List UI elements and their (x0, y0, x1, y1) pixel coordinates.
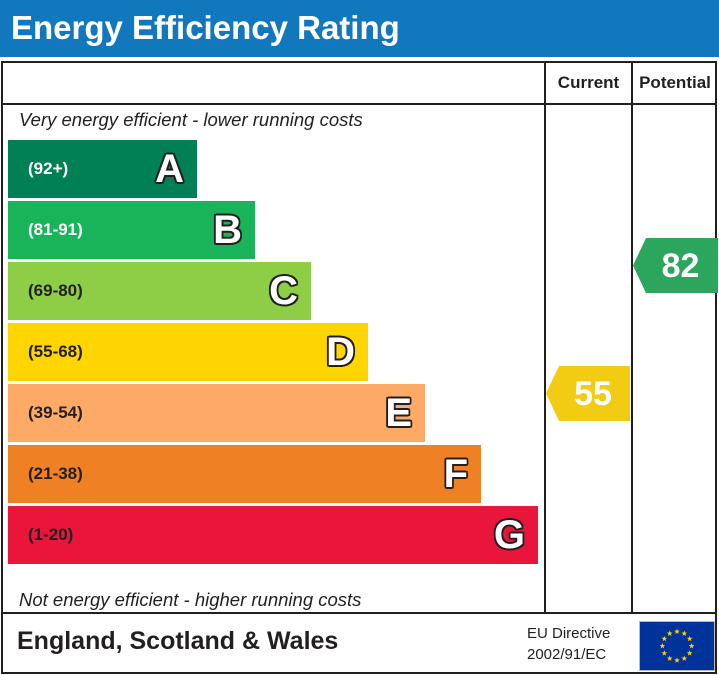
band-g-range: (1-20) (28, 525, 73, 545)
band-d-range: (55-68) (28, 342, 83, 362)
column-divider-potential (631, 63, 633, 612)
band-e: (39-54) E (8, 384, 425, 442)
band-b-letter: B (213, 210, 242, 250)
chart-footer: England, Scotland & Wales EU Directive 2… (1, 614, 717, 674)
potential-rating-arrow: 82 (633, 238, 718, 293)
band-f-range: (21-38) (28, 464, 83, 484)
footer-region-label: England, Scotland & Wales (17, 627, 338, 656)
current-rating-value: 55 (564, 377, 612, 411)
epc-certificate-graph: Energy Efficiency Rating Current Potenti… (0, 0, 719, 675)
footer-directive: EU Directive 2002/91/EC (527, 623, 632, 665)
band-d: (55-68) D (8, 323, 368, 381)
band-e-range: (39-54) (28, 403, 83, 423)
band-f: (21-38) F (8, 445, 481, 503)
band-b-range: (81-91) (28, 220, 83, 240)
band-c-range: (69-80) (28, 281, 83, 301)
caption-not-efficient: Not energy efficient - higher running co… (19, 589, 361, 611)
eu-flag-icon (639, 621, 715, 671)
band-a: (92+) A (8, 140, 197, 198)
current-rating-arrow: 55 (546, 366, 630, 421)
band-e-letter: E (385, 393, 412, 433)
page-title: Energy Efficiency Rating (11, 5, 400, 51)
band-a-range: (92+) (28, 159, 68, 179)
band-b: (81-91) B (8, 201, 255, 259)
band-g: (1-20) G (8, 506, 538, 564)
band-g-letter: G (494, 515, 525, 555)
band-f-letter: F (444, 454, 468, 494)
band-d-letter: D (326, 332, 355, 372)
band-a-letter: A (155, 149, 184, 189)
caption-very-efficient: Very energy efficient - lower running co… (19, 109, 363, 131)
column-header-potential: Potential (633, 69, 717, 97)
band-c: (69-80) C (8, 262, 311, 320)
directive-line-1: EU Directive (527, 623, 632, 644)
column-divider-current (544, 63, 546, 612)
header-row-divider (3, 103, 715, 105)
column-header-current: Current (546, 69, 631, 97)
band-c-letter: C (269, 271, 298, 311)
directive-line-2: 2002/91/EC (527, 644, 632, 665)
potential-rating-value: 82 (652, 249, 700, 283)
chart-header-banner: Energy Efficiency Rating (0, 0, 719, 57)
rating-table: Current Potential Very energy efficient … (1, 61, 717, 614)
